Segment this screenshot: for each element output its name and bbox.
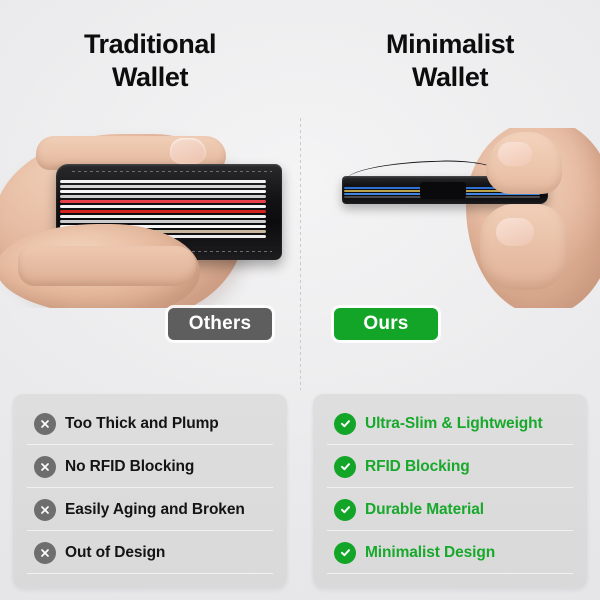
feature-row: Too Thick and Plump [13,402,287,445]
others-badge: Others [168,308,272,340]
finger-bottom [18,246,196,286]
right-column-title: Minimalist Wallet [300,28,600,94]
left-column-title: Traditional Wallet [0,28,300,94]
feature-row: Out of Design [13,531,287,574]
ours-badge: Ours [334,308,438,340]
check-icon [334,413,356,435]
feature-row: Ultra-Slim & Lightweight [313,402,587,445]
check-icon [334,499,356,521]
thumbnail [170,138,206,164]
badges-row: Others Ours [0,308,600,342]
row-separator [327,573,573,575]
index-finger [486,132,562,194]
feature-label: No RFID Blocking [65,458,194,476]
x-icon [34,456,56,478]
right-title-line2: Wallet [300,61,600,94]
x-icon [34,542,56,564]
feature-row: No RFID Blocking [13,445,287,488]
traditional-wallet-photo [0,128,300,308]
x-icon [34,413,56,435]
wallet-center-block [420,182,466,199]
titles-row: Traditional Wallet Minimalist Wallet [0,28,600,94]
traditional-feature-panel: Too Thick and Plump No RFID Blocking Eas… [13,394,287,588]
feature-label: Minimalist Design [365,544,495,562]
left-title-line2: Wallet [0,61,300,94]
feature-label: RFID Blocking [365,458,470,476]
feature-label: Durable Material [365,501,484,519]
minimalist-wallet-photo [300,128,600,308]
x-icon [34,499,56,521]
ours-badge-label: Ours [363,313,408,335]
feature-label: Too Thick and Plump [65,415,219,433]
check-icon [334,456,356,478]
others-badge-label: Others [189,313,251,335]
feature-label: Ultra-Slim & Lightweight [365,415,543,433]
feature-row: Easily Aging and Broken [13,488,287,531]
minimalist-feature-panel: Ultra-Slim & Lightweight RFID Blocking D… [313,394,587,588]
row-separator [27,573,273,575]
thumb [480,204,566,290]
check-icon [334,542,356,564]
feature-row: Durable Material [313,488,587,531]
feature-label: Out of Design [65,544,165,562]
feature-row: Minimalist Design [313,531,587,574]
comparison-infographic: Traditional Wallet Minimalist Wallet [0,0,600,600]
feature-row: RFID Blocking [313,445,587,488]
left-title-line1: Traditional [0,28,300,61]
right-title-line1: Minimalist [300,28,600,61]
feature-label: Easily Aging and Broken [65,501,245,519]
product-photos [0,128,600,308]
feature-panels: Too Thick and Plump No RFID Blocking Eas… [0,394,600,594]
